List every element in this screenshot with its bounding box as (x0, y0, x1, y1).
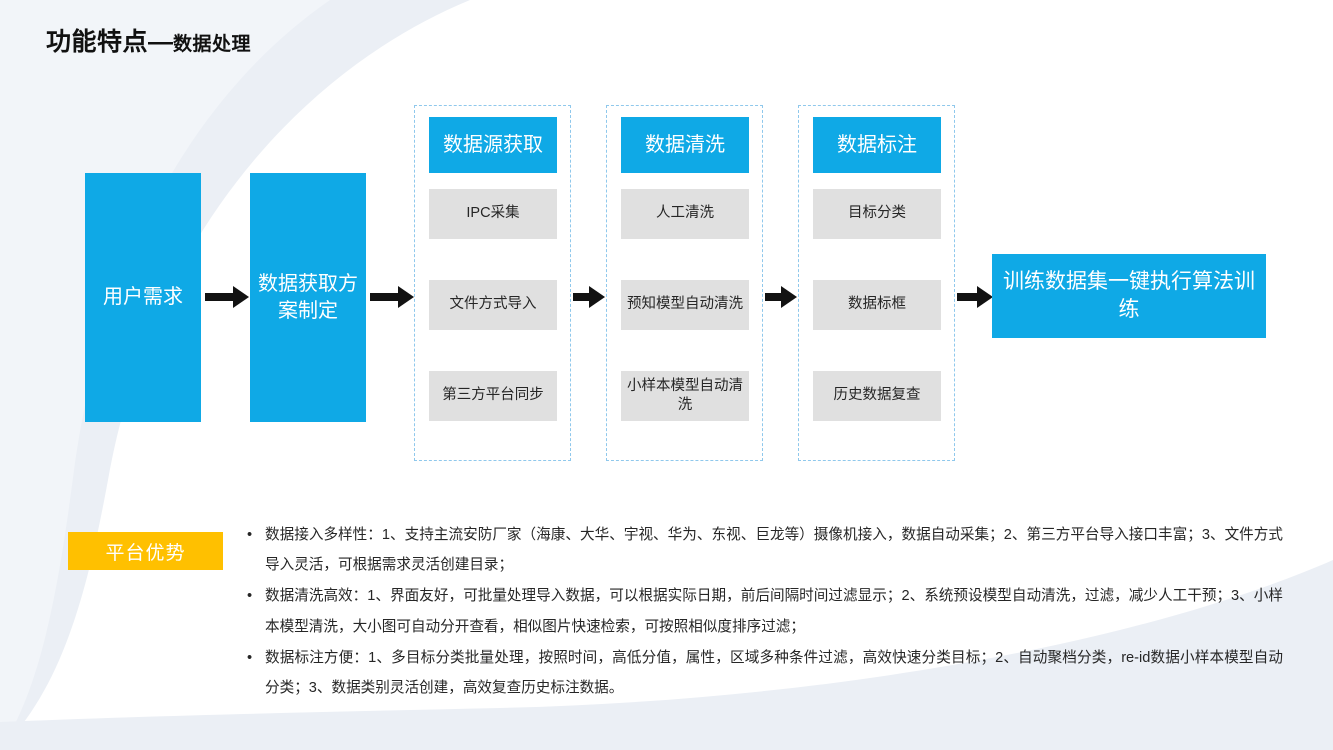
flow-item-label: 预知模型自动清洗 (627, 295, 743, 314)
flow-arrow-right-icon (573, 286, 605, 308)
flow-arrow-right-icon (370, 286, 414, 308)
advantage-text: 数据标注方便：1、多目标分类批量处理，按照时间，高低分值，属性，区域多种条件过滤… (265, 650, 1283, 696)
flow-group-source-header-label: 数据源获取 (443, 132, 543, 158)
arrow-shaft (573, 293, 589, 301)
flow-group-label-items: 目标分类 数据标框 历史数据复查 (813, 189, 941, 421)
flow-item-label: 目标分类 (848, 204, 906, 223)
page-title-main: 功能特点 (46, 28, 148, 56)
list-item: • 数据标注方便：1、多目标分类批量处理，按照时间，高低分值，属性，区域多种条件… (243, 643, 1283, 703)
flow-item-label: 人工清洗 (656, 204, 714, 223)
flow-stage-user-need[interactable]: 用户需求 (85, 173, 201, 422)
page-title-dash: — (148, 28, 173, 56)
bullet-icon: • (247, 520, 252, 550)
flow-arrow-right-icon (957, 286, 993, 308)
flow-item-label: 历史数据复查 (834, 386, 921, 405)
advantage-text: 数据清洗高效：1、界面友好，可批量处理导入数据，可以根据实际日期，前后间隔时间过… (265, 588, 1283, 634)
arrow-head (233, 286, 249, 308)
flow-arrow-right-icon (765, 286, 797, 308)
list-item[interactable]: 预知模型自动清洗 (621, 280, 749, 330)
list-item[interactable]: 目标分类 (813, 189, 941, 239)
list-item: • 数据接入多样性：1、支持主流安防厂家（海康、大华、宇视、华为、东视、巨龙等）… (243, 520, 1283, 580)
list-item[interactable]: 小样本模型自动清洗 (621, 371, 749, 421)
flow-item-label: IPC采集 (466, 204, 519, 223)
advantage-bullet-list: • 数据接入多样性：1、支持主流安防厂家（海康、大华、宇视、华为、东视、巨龙等）… (243, 520, 1283, 704)
flow-group-source-items: IPC采集 文件方式导入 第三方平台同步 (429, 189, 557, 421)
flow-stage-plan-label: 数据获取方案制定 (256, 271, 360, 325)
flow-stage-final[interactable]: 训练数据集一键执行算法训练 (992, 254, 1266, 338)
arrow-head (781, 286, 797, 308)
bullet-icon: • (247, 581, 252, 611)
list-item[interactable]: 数据标框 (813, 280, 941, 330)
list-item[interactable]: 人工清洗 (621, 189, 749, 239)
advantage-text: 数据接入多样性：1、支持主流安防厂家（海康、大华、宇视、华为、东视、巨龙等）摄像… (265, 527, 1283, 573)
flow-group-clean-items: 人工清洗 预知模型自动清洗 小样本模型自动清洗 (621, 189, 749, 421)
bullet-icon: • (247, 643, 252, 673)
flow-item-label: 文件方式导入 (450, 295, 537, 314)
flow-stage-final-label: 训练数据集一键执行算法训练 (998, 268, 1260, 324)
flow-item-label: 数据标框 (848, 295, 906, 314)
status-badge: 平台优势 (68, 532, 223, 570)
page-title: 功能特点—数据处理 (46, 22, 251, 58)
process-flow-diagram: 用户需求 数据获取方案制定 数据源获取 IPC采集 文件方式导入 第三方平台同步 (0, 0, 1333, 480)
arrow-head (977, 286, 993, 308)
page-title-sub: 数据处理 (173, 34, 251, 55)
arrow-shaft (957, 293, 977, 301)
flow-arrow-right-icon (205, 286, 249, 308)
flow-stage-user-need-label: 用户需求 (103, 284, 183, 311)
flow-item-label: 小样本模型自动清洗 (626, 377, 744, 415)
flow-group-source-header[interactable]: 数据源获取 (429, 117, 557, 173)
list-item[interactable]: 历史数据复查 (813, 371, 941, 421)
list-item[interactable]: 文件方式导入 (429, 280, 557, 330)
flow-group-source: 数据源获取 IPC采集 文件方式导入 第三方平台同步 (414, 105, 571, 461)
flow-group-clean-header[interactable]: 数据清洗 (621, 117, 749, 173)
arrow-shaft (370, 293, 398, 301)
list-item[interactable]: 第三方平台同步 (429, 371, 557, 421)
list-item: • 数据清洗高效：1、界面友好，可批量处理导入数据，可以根据实际日期，前后间隔时… (243, 581, 1283, 641)
list-item[interactable]: IPC采集 (429, 189, 557, 239)
arrow-shaft (205, 293, 233, 301)
flow-group-label-header-label: 数据标注 (837, 132, 917, 158)
flow-group-clean: 数据清洗 人工清洗 预知模型自动清洗 小样本模型自动清洗 (606, 105, 763, 461)
flow-stage-plan[interactable]: 数据获取方案制定 (250, 173, 366, 422)
flow-group-label: 数据标注 目标分类 数据标框 历史数据复查 (798, 105, 955, 461)
arrow-shaft (765, 293, 781, 301)
flow-group-label-header[interactable]: 数据标注 (813, 117, 941, 173)
flow-group-clean-header-label: 数据清洗 (645, 132, 725, 158)
advantage-badge-label: 平台优势 (105, 538, 185, 565)
flow-item-label: 第三方平台同步 (442, 386, 544, 405)
arrow-head (398, 286, 414, 308)
arrow-head (589, 286, 605, 308)
